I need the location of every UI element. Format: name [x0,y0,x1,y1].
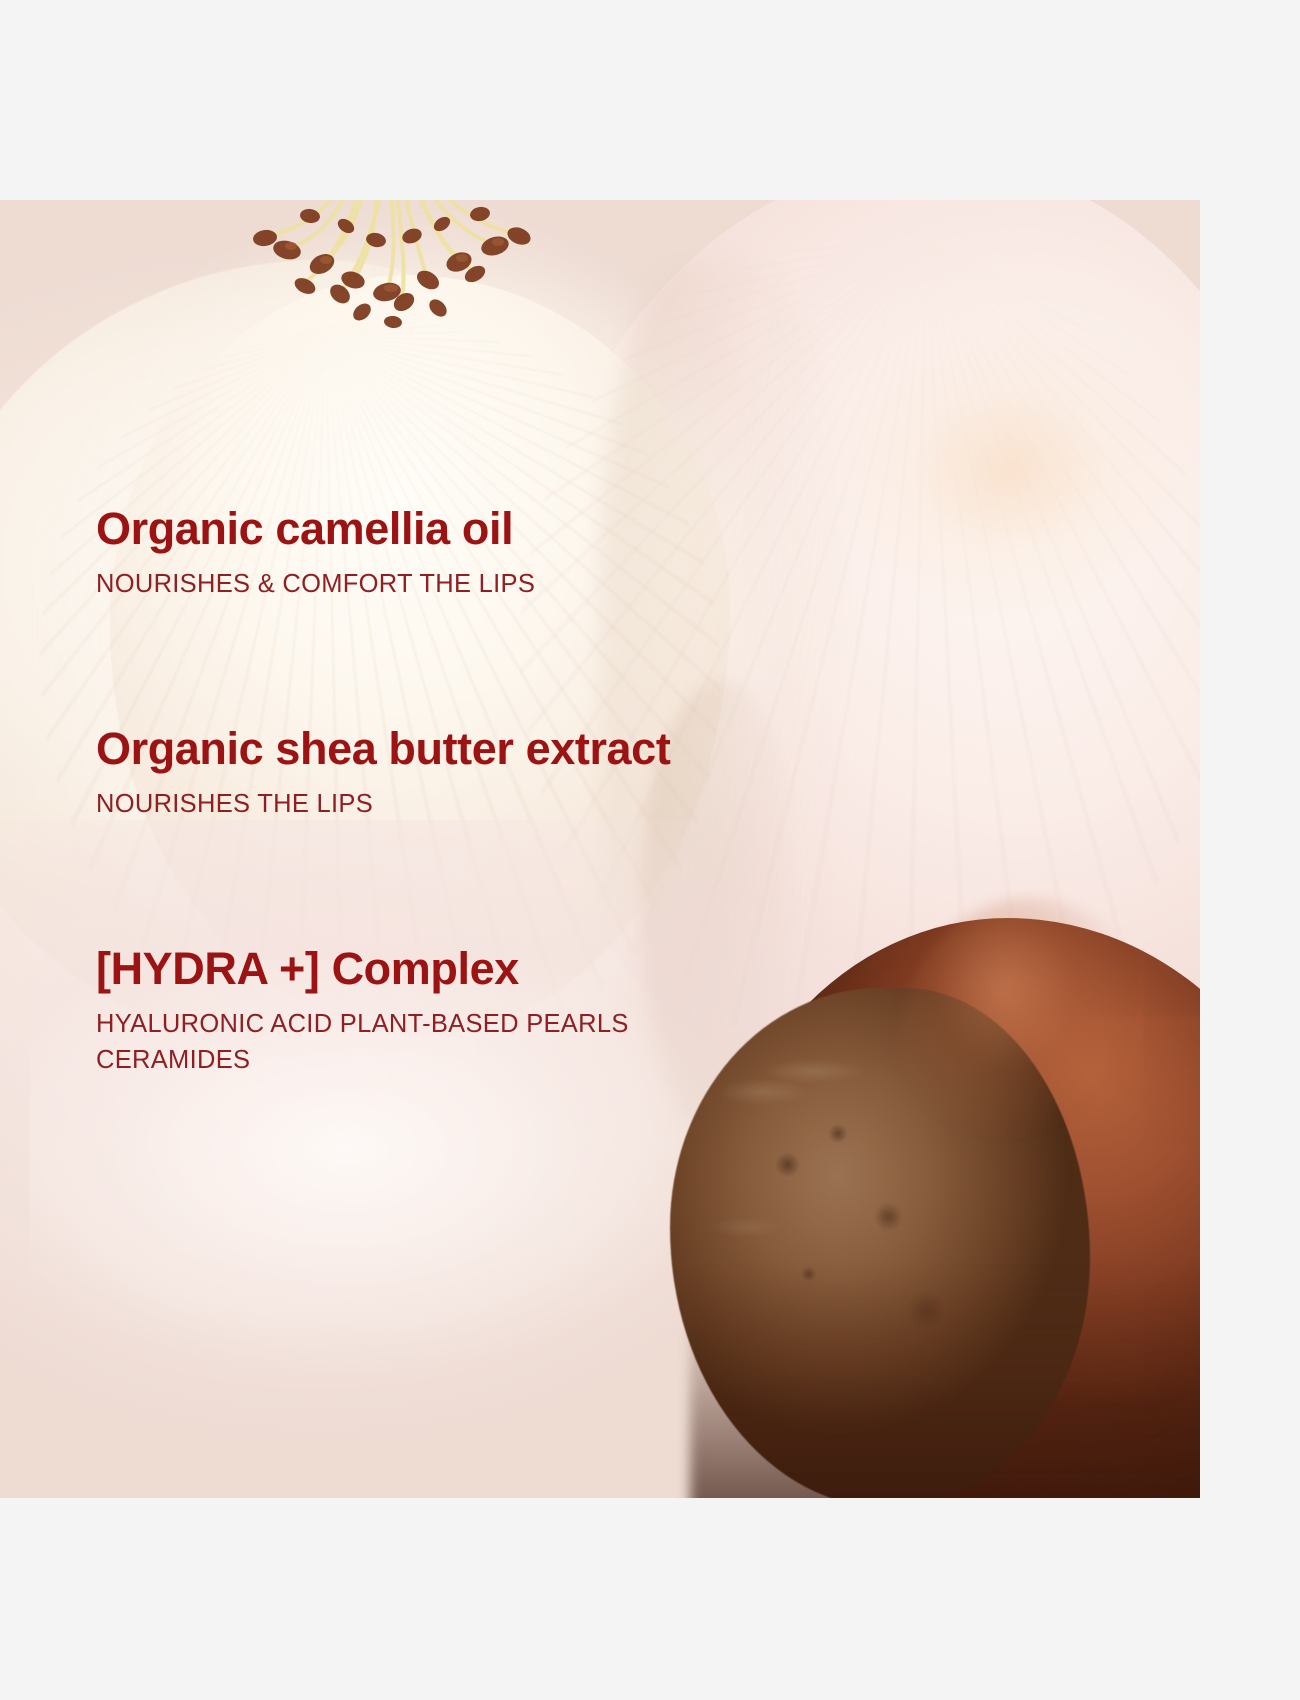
ingredient-benefit: HYALURONIC ACID PLANT-BASED PEARLS CERAM… [96,1006,629,1078]
ingredient-title: Organic shea butter extract [96,725,670,772]
ingredient-item-hydra-plus-complex: [HYDRA +] Complex HYALURONIC ACID PLANT-… [96,945,629,1079]
ingredient-title: Organic camellia oil [96,505,535,552]
ingredient-benefit-line: CERAMIDES [96,1042,629,1078]
ingredient-benefit-line: NOURISHES THE LIPS [96,786,670,822]
ingredient-item-shea-butter-extract: Organic shea butter extract NOURISHES TH… [96,725,670,822]
ingredient-benefit: NOURISHES THE LIPS [96,786,670,822]
ingredient-item-camellia-oil: Organic camellia oil NOURISHES & COMFORT… [96,505,535,602]
shea-nut-shadow [690,1268,1200,1498]
ingredient-benefits-page: Organic camellia oil NOURISHES & COMFORT… [0,0,1300,1700]
shea-nut-image [650,858,1200,1498]
ingredient-benefit-line: HYALURONIC ACID PLANT-BASED PEARLS [96,1006,629,1042]
camellia-stamen-cluster [150,200,610,340]
ingredient-title: [HYDRA +] Complex [96,945,629,992]
product-ingredient-photo [0,200,1200,1498]
shea-nut-highlight [900,898,1160,1198]
peach-highlight-glow [830,320,1190,620]
ingredient-benefit: NOURISHES & COMFORT THE LIPS [96,566,535,602]
ingredient-benefit-line: NOURISHES & COMFORT THE LIPS [96,566,535,602]
